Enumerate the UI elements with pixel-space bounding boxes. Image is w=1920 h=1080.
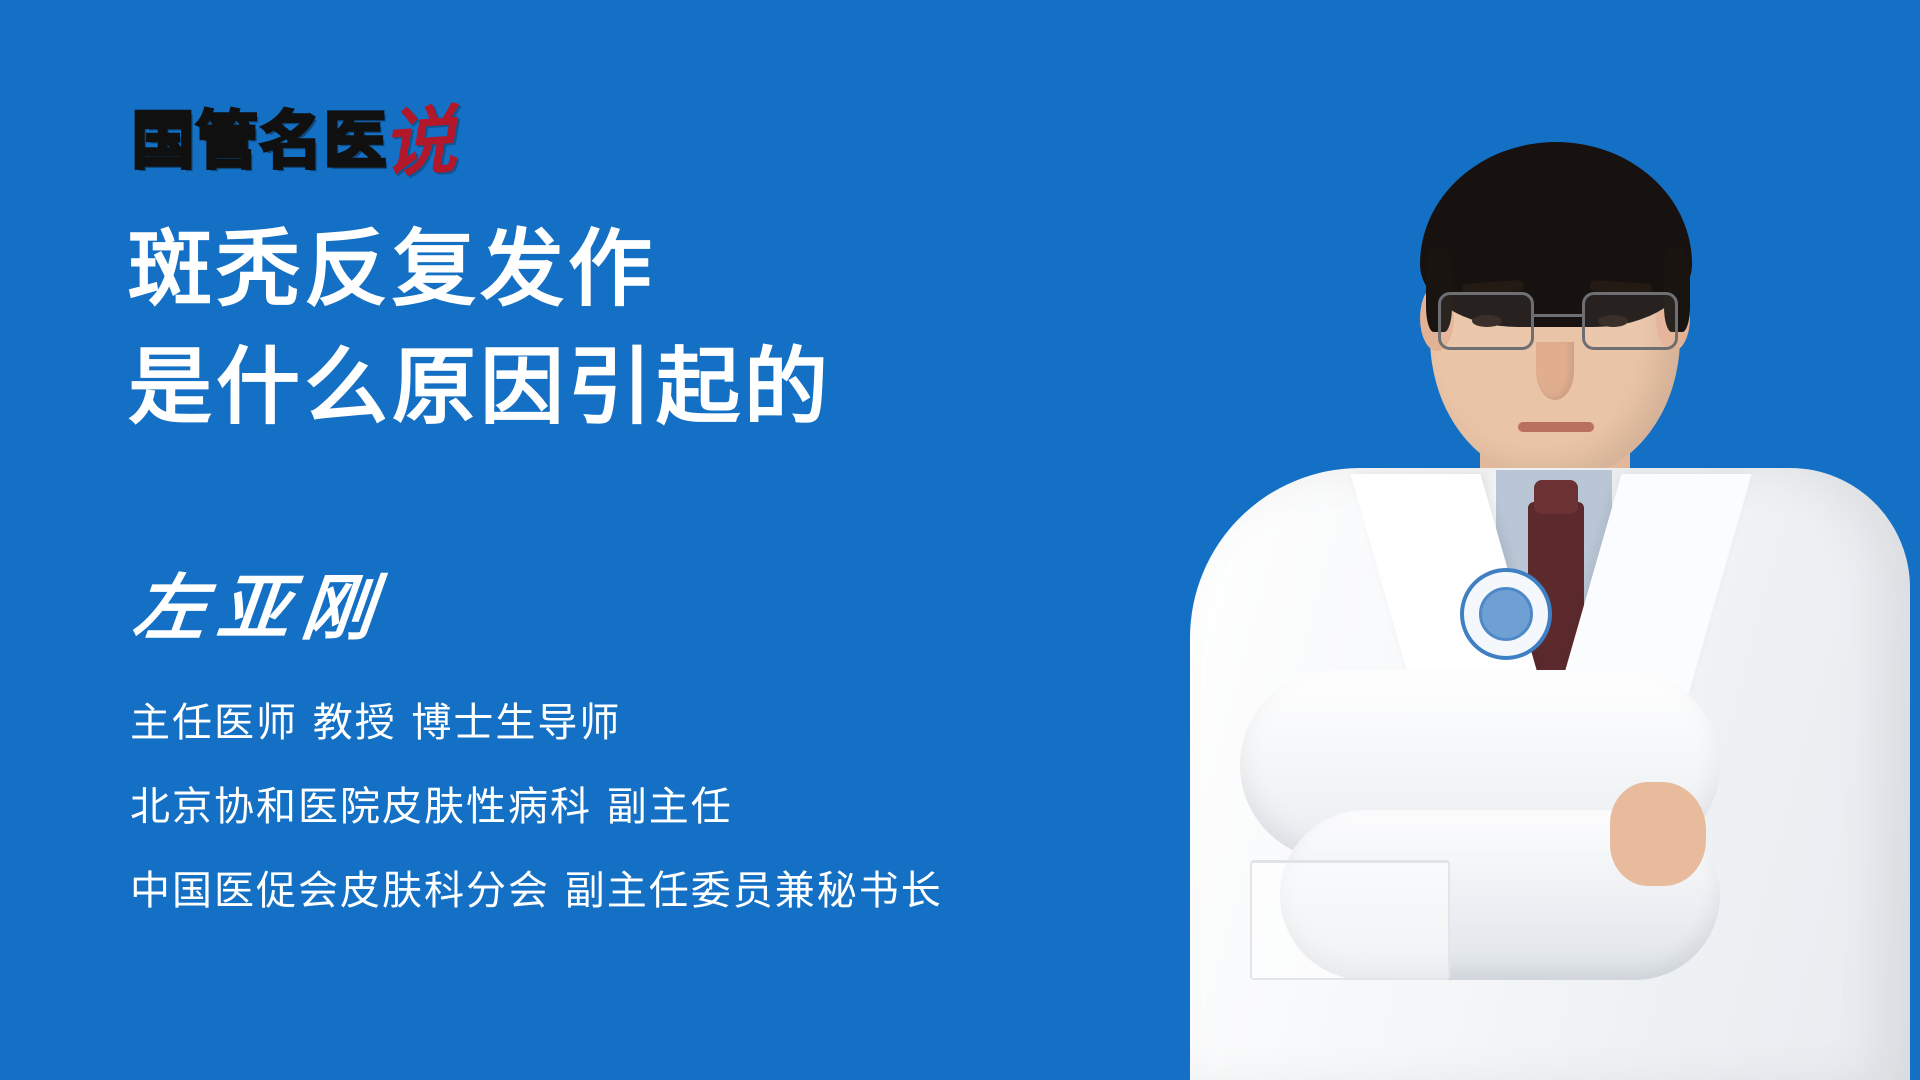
doctor-credentials: 主任医师 教授 博士生导师 北京协和医院皮肤性病科 副主任 中国医促会皮肤科分会… bbox=[130, 700, 943, 914]
program-logo: 国管名医 说 bbox=[132, 96, 456, 172]
credential-line: 主任医师 教授 博士生导师 bbox=[130, 700, 943, 746]
portrait-coat-pocket bbox=[1250, 860, 1450, 980]
portrait-lens-left bbox=[1438, 292, 1534, 350]
program-logo-accent-text: 说 bbox=[380, 109, 458, 176]
portrait-coat-badge-emblem bbox=[1479, 587, 1533, 641]
credential-line: 北京协和医院皮肤性病科 副主任 bbox=[130, 784, 943, 830]
title-line-2: 是什么原因引起的 bbox=[128, 328, 832, 446]
portrait-lens-right bbox=[1582, 292, 1678, 350]
portrait-nose bbox=[1536, 342, 1574, 400]
title-line-1: 斑秃反复发作 bbox=[128, 210, 832, 328]
doctor-portrait-photo: 中国医疗信息查询 bbox=[1180, 70, 1920, 1080]
portrait-hand bbox=[1610, 782, 1706, 886]
portrait-glasses-bridge bbox=[1534, 314, 1582, 317]
page-title: 斑秃反复发作 是什么原因引起的 bbox=[128, 210, 832, 446]
portrait-mouth bbox=[1518, 422, 1594, 432]
credential-line: 中国医促会皮肤科分会 副主任委员兼秘书长 bbox=[130, 868, 943, 914]
portrait-coat-badge-icon bbox=[1460, 568, 1552, 660]
program-logo-main-text: 国管名医 bbox=[132, 110, 388, 172]
doctor-name: 左亚刚 bbox=[130, 566, 391, 650]
title-card: 国管名医 说 斑秃反复发作 是什么原因引起的 左亚刚 主任医师 教授 博士生导师… bbox=[0, 0, 1920, 1080]
